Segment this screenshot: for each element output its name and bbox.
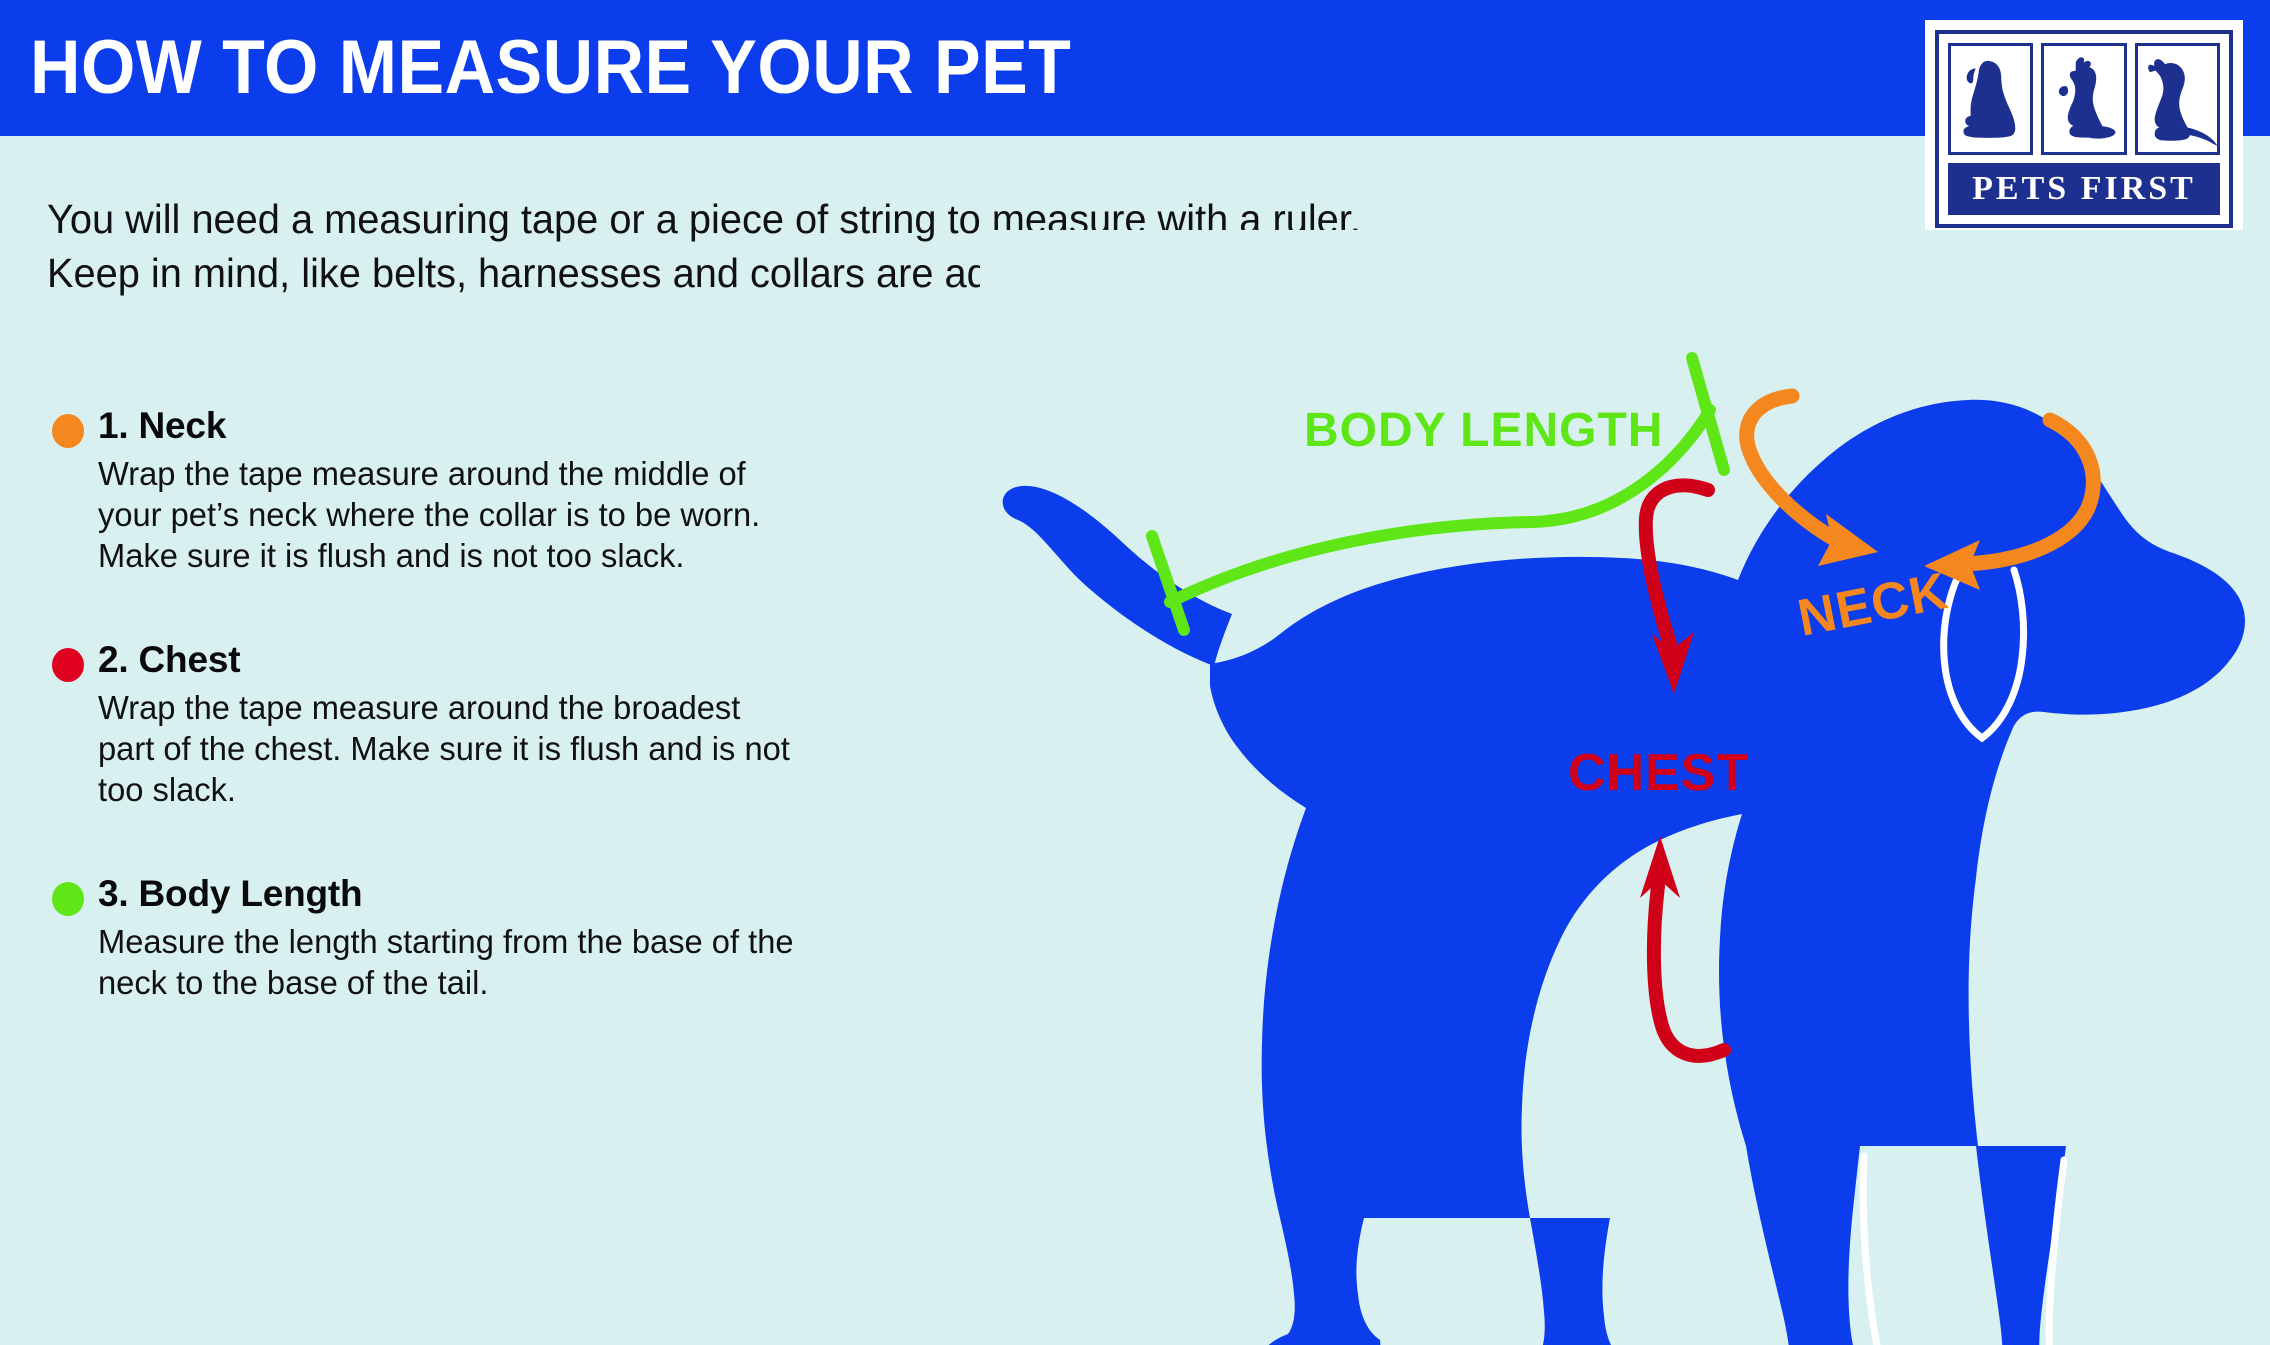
step-body-length-line-1: Measure the length starting from the bas… (98, 921, 759, 962)
logo-name-bar: PETS FIRST (1948, 163, 2220, 215)
step-chest: 2. Chest Wrap the tape measure around th… (46, 638, 766, 810)
bullet-neck (52, 414, 84, 448)
step-chest-body: Wrap the tape measure around the broades… (98, 687, 759, 810)
begging-dog-silhouette-icon (2041, 43, 2126, 155)
step-neck: 1. Neck Wrap the tape measure around the… (46, 404, 766, 576)
step-neck-line-2: your pet’s neck where the collar is to b… (98, 494, 759, 535)
step-chest-line-2: part of the chest. Make sure it is flush… (98, 728, 759, 769)
step-chest-heading: 2. Chest (98, 638, 766, 682)
logo-frame: PETS FIRST (1935, 30, 2233, 228)
sitting-shepherd-silhouette-icon (2135, 43, 2220, 155)
step-body-length: 3. Body Length Measure the length starti… (46, 872, 766, 1003)
brand-name: PETS FIRST (1972, 172, 2196, 206)
step-chest-line-1: Wrap the tape measure around the broades… (98, 687, 759, 728)
bullet-body-length (52, 882, 84, 916)
measurement-steps-list: 1. Neck Wrap the tape measure around the… (46, 404, 766, 1065)
step-body-length-heading: 3. Body Length (98, 872, 766, 916)
step-chest-line-3: too slack. (98, 769, 759, 810)
step-neck-line-1: Wrap the tape measure around the middle … (98, 453, 759, 494)
bullet-chest (52, 648, 84, 682)
page-title: HOW TO MEASURE YOUR PET (30, 14, 1071, 122)
dog-measurement-diagram: BODY LENGTH NECK CHEST (980, 230, 2270, 1345)
infographic-page: HOW TO MEASURE YOUR PET (0, 0, 2270, 1345)
logo-panel-row (1948, 43, 2220, 155)
brand-logo: PETS FIRST (1925, 20, 2243, 238)
sitting-dog-silhouette-icon (1948, 43, 2033, 155)
step-neck-line-3: Make sure it is flush and is not too sla… (98, 535, 759, 576)
step-body-length-body: Measure the length starting from the bas… (98, 921, 759, 1003)
step-neck-heading: 1. Neck (98, 404, 766, 448)
chest-label: CHEST (1568, 744, 1749, 802)
step-neck-body: Wrap the tape measure around the middle … (98, 453, 759, 576)
body-length-label: BODY LENGTH (1304, 404, 1663, 457)
step-body-length-line-2: neck to the base of the tail. (98, 962, 759, 1003)
